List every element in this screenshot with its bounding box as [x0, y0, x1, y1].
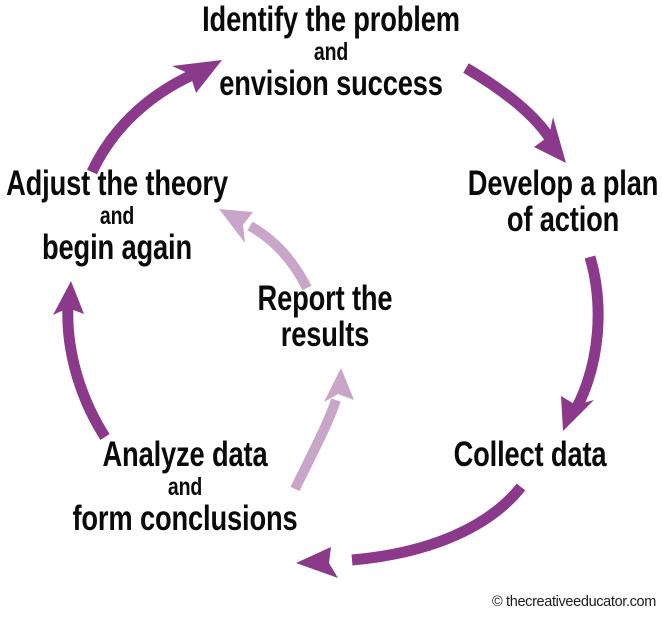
node-report-line2: results: [258, 317, 393, 353]
arrow-analyze-to-report: [295, 368, 354, 489]
node-identify-line2: envision success: [202, 66, 460, 102]
node-identify-line1: Identify the problem: [202, 2, 460, 38]
arrow-collect-to-analyze: [296, 487, 521, 578]
node-identify-conjunction: and: [202, 38, 460, 66]
scientific-method-cycle-diagram: Identify the problem and envision succes…: [0, 0, 662, 618]
node-adjust-line2: begin again: [6, 230, 228, 266]
node-adjust-conjunction: and: [6, 202, 228, 230]
node-label-develop: Develop a plan of action: [468, 166, 658, 237]
node-develop-line1: Develop a plan: [468, 166, 658, 202]
node-label-collect: Collect data: [454, 437, 607, 473]
arrow-identify-to-develop: [466, 68, 566, 163]
node-label-identify: Identify the problem and envision succes…: [202, 2, 460, 101]
arrow-report-to-adjust: [219, 209, 307, 288]
node-analyze-line2: form conclusions: [72, 501, 297, 537]
node-report-line1: Report the: [258, 281, 393, 317]
node-label-analyze: Analyze data and form conclusions: [72, 437, 297, 536]
node-label-adjust: Adjust the theory and begin again: [6, 166, 228, 265]
node-analyze-conjunction: and: [72, 473, 297, 501]
arrow-develop-to-collect: [561, 257, 598, 431]
copyright-credit: © thecreativeeducator.com: [492, 594, 656, 610]
node-analyze-line1: Analyze data: [72, 437, 297, 473]
node-adjust-line1: Adjust the theory: [6, 166, 228, 202]
node-label-report: Report the results: [258, 281, 393, 352]
node-develop-line2: of action: [468, 202, 658, 238]
node-collect-line1: Collect data: [454, 437, 607, 473]
arrow-analyze-to-adjust: [53, 281, 105, 437]
